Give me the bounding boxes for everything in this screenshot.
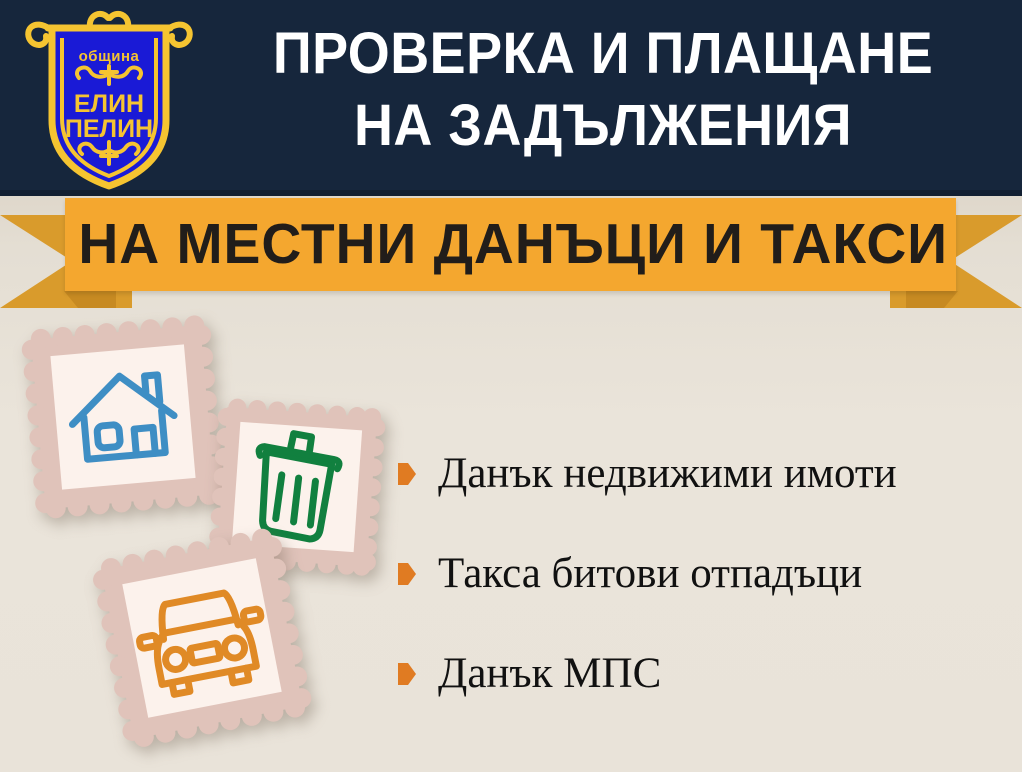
ribbon-band: НА МЕСТНИ ДАНЪЦИ И ТАКСИ bbox=[65, 198, 956, 291]
scroll-curl-right bbox=[168, 25, 190, 45]
list-item-label: Такса битови отпадъци bbox=[438, 550, 862, 597]
municipality-logo: община ЕЛИН ПЕЛИН bbox=[22, 8, 197, 190]
ribbon-label: НА МЕСТНИ ДАНЪЦИ И ТАКСИ bbox=[78, 198, 942, 291]
house-stamp-card bbox=[16, 310, 231, 525]
logo-text-obshtina: община bbox=[79, 48, 140, 65]
list-item[interactable]: Такса битови отпадъци bbox=[398, 524, 1008, 624]
arrow-bullet-icon bbox=[398, 463, 416, 485]
arrow-bullet-icon bbox=[398, 563, 416, 585]
title-line-1: ПРОВЕРКА И ПЛАЩАНЕ bbox=[226, 18, 979, 90]
title-line-2: НА ЗАДЪЛЖЕНИЯ bbox=[226, 90, 979, 162]
car-stamp-card bbox=[92, 528, 312, 748]
list-item[interactable]: Данък недвижими имоти bbox=[398, 424, 1008, 524]
list-item[interactable]: Данък МПС bbox=[398, 624, 1008, 724]
page-title: ПРОВЕРКА И ПЛАЩАНЕ НА ЗАДЪЛЖЕНИЯ bbox=[198, 18, 1008, 162]
poster-canvas: община ЕЛИН ПЕЛИН ПРОВЕРКА И ПЛАЩАНЕ bbox=[0, 0, 1022, 772]
logo-text-elin: ЕЛИН bbox=[74, 90, 144, 118]
logo-text-pelin: ПЕЛИН bbox=[65, 115, 153, 143]
arrow-bullet-icon bbox=[398, 663, 416, 685]
subtitle-ribbon: НА МЕСТНИ ДАНЪЦИ И ТАКСИ bbox=[0, 196, 1022, 308]
list-item-label: Данък недвижими имоти bbox=[438, 450, 897, 497]
tax-types-list: Данък недвижими имоти Такса битови отпад… bbox=[398, 424, 1008, 724]
list-item-label: Данък МПС bbox=[438, 650, 661, 697]
scroll-curl-left bbox=[28, 25, 50, 45]
